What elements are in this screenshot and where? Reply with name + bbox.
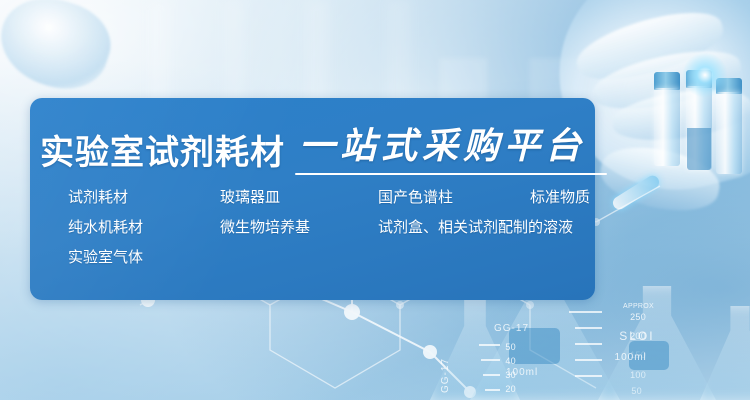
category-row-2: 纯水机耗材 微生物培养基 试剂盒、相关试剂配制的溶液 bbox=[38, 212, 594, 242]
category-row-3: 实验室气体 bbox=[38, 242, 594, 272]
category-grid: 试剂耗材 玻璃器皿 国产色谱柱 标准物质 纯水机耗材 微生物培养基 试剂盒、相关… bbox=[38, 182, 594, 272]
banner-title: 实验室试剂耗材 一站式采购平台 bbox=[40, 116, 600, 170]
flask-brand-sloi: SLOI bbox=[619, 329, 654, 343]
flask-small-grad-50: 50 bbox=[505, 342, 516, 352]
category-water-purifier-consumables[interactable]: 纯水机耗材 bbox=[68, 212, 143, 242]
flask-small-grad-20: 20 bbox=[505, 384, 516, 394]
flask-small-grad-30: 30 bbox=[505, 370, 516, 380]
erlenmeyer-flask-mid: SLOI 100ml bbox=[598, 286, 716, 400]
promo-card: 实验室试剂耗材 一站式采购平台 试剂耗材 玻璃器皿 国产色谱柱 标准物质 纯水机… bbox=[30, 98, 595, 300]
category-reagent-consumables[interactable]: 试剂耗材 bbox=[68, 182, 128, 212]
flask-graduation-marks-c bbox=[464, 344, 500, 400]
title-main-text: 实验室试剂耗材 bbox=[40, 136, 285, 170]
category-laboratory-gases[interactable]: 实验室气体 bbox=[68, 242, 143, 272]
flask-small-grad-40: 40 bbox=[505, 356, 516, 366]
laboratory-reagent-banner: 250 200 150 100 50 APPROX GG-17 100ml SL… bbox=[0, 0, 750, 400]
erlenmeyer-flask-small: 50 40 30 20 GG-17 bbox=[430, 300, 520, 400]
erlenmeyer-flask-right: 250 bbox=[700, 306, 750, 400]
category-reference-materials[interactable]: 标准物质 bbox=[530, 182, 590, 212]
flask-volume-100ml-b: 100ml bbox=[615, 352, 647, 363]
category-row-1: 试剂耗材 玻璃器皿 国产色谱柱 标准物质 bbox=[38, 182, 594, 212]
category-microbial-culture-media[interactable]: 微生物培养基 bbox=[220, 212, 310, 242]
flask-brand-gg17-c: GG-17 bbox=[440, 358, 451, 393]
category-domestic-chromatography-column[interactable]: 国产色谱柱 bbox=[378, 182, 453, 212]
category-glassware[interactable]: 玻璃器皿 bbox=[220, 182, 280, 212]
flask-graduation-marks-a bbox=[551, 309, 602, 389]
title-brush-wrapper: 一站式采购平台 bbox=[299, 128, 586, 170]
flask-glass-d bbox=[700, 306, 750, 400]
title-brush-text: 一站式采购平台 bbox=[299, 125, 586, 167]
title-underline bbox=[295, 173, 607, 175]
category-kits-and-prepared-solutions[interactable]: 试剂盒、相关试剂配制的溶液 bbox=[378, 212, 573, 242]
